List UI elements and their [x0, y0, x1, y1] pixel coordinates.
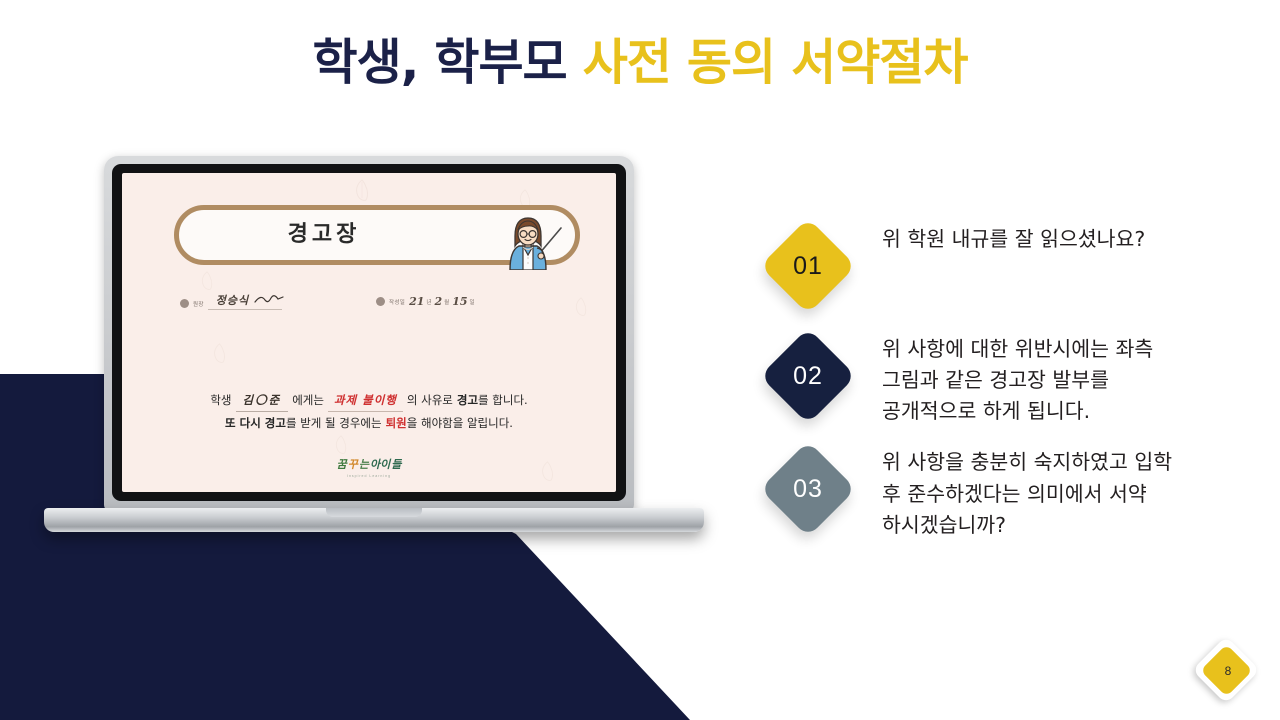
warning-word: 경고: [457, 393, 478, 407]
date-year: 21: [409, 295, 424, 308]
step-text-line: 위 학원 내규를 잘 읽으셨나요?: [882, 224, 1256, 255]
laptop-mockup: 경고장: [104, 156, 634, 511]
leaf-motif-icon: [334, 435, 348, 454]
steps-list: 01 위 학원 내규를 잘 읽으셨나요? 02 위 사항에 대한 위반시에는 좌…: [756, 218, 1256, 555]
academy-logo-subtitle: Inspired Learning: [122, 474, 616, 478]
student-name: 김〇준: [236, 389, 289, 412]
step-number: 03: [756, 441, 860, 537]
signer-line: 정승식: [208, 295, 282, 310]
step-badge-02[interactable]: 02: [756, 328, 860, 424]
teacher-illustration-icon: [493, 214, 563, 270]
violation-reason: 과제 불이행: [328, 389, 403, 412]
title-part-navy: 학생, 학부모: [313, 34, 567, 91]
step-text: 위 사항에 대한 위반시에는 좌측 그림과 같은 경고장 발부를 공개적으로 하…: [882, 328, 1256, 427]
step-text-line: 위 사항을 충분히 숙지하였고 입학: [882, 447, 1256, 478]
date-value: 21 년 2 월 15 일: [409, 295, 477, 308]
repeat-warning-word: 또 다시 경고: [225, 416, 286, 430]
slide-canvas: 학생, 학부모 사전 동의 서약절차: [0, 0, 1280, 720]
certificate-body: 학생 김〇준 에게는 과제 불이행 의 사유로 경고를 합니다. 또 다시 경고…: [122, 389, 616, 435]
title-part-yellow: 사전 동의 서약절차: [583, 34, 968, 91]
step-text: 위 사항을 충분히 숙지하였고 입학 후 준수하겠다는 의미에서 서약 하시겠습…: [882, 441, 1256, 540]
step-text-line: 하시겠습니까?: [882, 510, 1256, 541]
step-badge-01[interactable]: 01: [756, 218, 860, 314]
date-day-unit: 일: [470, 298, 475, 306]
logo-char-5: 들: [391, 456, 401, 472]
date-badge-icon: [376, 297, 385, 306]
logo-char-2: 꾸: [348, 456, 358, 472]
laptop-screen: 경고장: [122, 173, 616, 492]
academy-logo: 꿈 꾸 는 아이 들 Inspired Learning: [122, 455, 616, 478]
laptop-bezel: 경고장: [112, 164, 626, 501]
step-text: 위 학원 내규를 잘 읽으셨나요?: [882, 218, 1256, 255]
page-title: 학생, 학부모 사전 동의 서약절차: [0, 36, 1280, 90]
body-line2-c: 을 해야함을 알립니다.: [407, 416, 513, 430]
certificate-header-box: 경고장: [174, 205, 580, 265]
step-text-line: 공개적으로 하게 됩니다.: [882, 396, 1256, 427]
page-number: 8: [1198, 642, 1258, 700]
signer-badge-icon: [180, 299, 189, 308]
logo-char-4: 아이: [370, 456, 390, 472]
date-field: 작성일 21 년 2 월 15 일: [376, 295, 478, 308]
leaf-motif-icon: [212, 343, 227, 363]
step-number: 02: [756, 328, 860, 424]
academy-logo-wordmark: 꿈 꾸 는 아이 들: [337, 456, 402, 472]
logo-char-3: 는: [359, 456, 369, 472]
body-line2-b: 를 받게 될 경우에는: [286, 416, 382, 430]
body-mid: 에게는: [292, 393, 324, 407]
certificate-heading: 경고장: [179, 210, 469, 260]
signer-name: 정승식: [216, 292, 249, 308]
logo-char-1: 꿈: [337, 456, 347, 472]
certificate-body-line-1: 학생 김〇준 에게는 과제 불이행 의 사유로 경고를 합니다.: [122, 389, 616, 412]
body-post-b: 를 합니다.: [478, 393, 528, 407]
date-label: 작성일: [389, 298, 405, 306]
expulsion-word: 퇴원: [386, 416, 407, 430]
step-item: 03 위 사항을 충분히 숙지하였고 입학 후 준수하겠다는 의미에서 서약 하…: [756, 441, 1256, 540]
date-month: 2: [434, 295, 442, 308]
laptop-lid: 경고장: [104, 156, 634, 511]
body-pre: 학생: [210, 393, 231, 407]
date-month-unit: 월: [444, 298, 449, 306]
step-item: 02 위 사항에 대한 위반시에는 좌측 그림과 같은 경고장 발부를 공개적으…: [756, 328, 1256, 427]
step-number: 01: [756, 218, 860, 314]
leaf-motif-icon: [422, 491, 435, 492]
step-text-line: 후 준수하겠다는 의미에서 서약: [882, 479, 1256, 510]
date-year-unit: 년: [426, 298, 431, 306]
certificate-body-line-2: 또 다시 경고를 받게 될 경우에는 퇴원을 해야함을 알립니다.: [122, 412, 616, 434]
body-post-a: 의 사유로: [407, 393, 453, 407]
leaf-motif-icon: [354, 179, 370, 201]
date-day: 15: [452, 295, 467, 308]
laptop-base: [44, 508, 704, 532]
step-text-line: 그림과 같은 경고장 발부를: [882, 365, 1256, 396]
step-badge-03[interactable]: 03: [756, 441, 860, 537]
step-text-line: 위 사항에 대한 위반시에는 좌측: [882, 334, 1256, 365]
signature-mark-icon: [254, 292, 284, 310]
signer-field: 원장 정승식: [180, 295, 282, 310]
certificate-meta-row: 원장 정승식 작성일 21: [180, 295, 580, 315]
page-number-badge: 8: [1198, 642, 1258, 702]
signer-label: 원장: [193, 300, 204, 308]
leaf-motif-icon: [200, 271, 214, 290]
step-item: 01 위 학원 내규를 잘 읽으셨나요?: [756, 218, 1256, 314]
